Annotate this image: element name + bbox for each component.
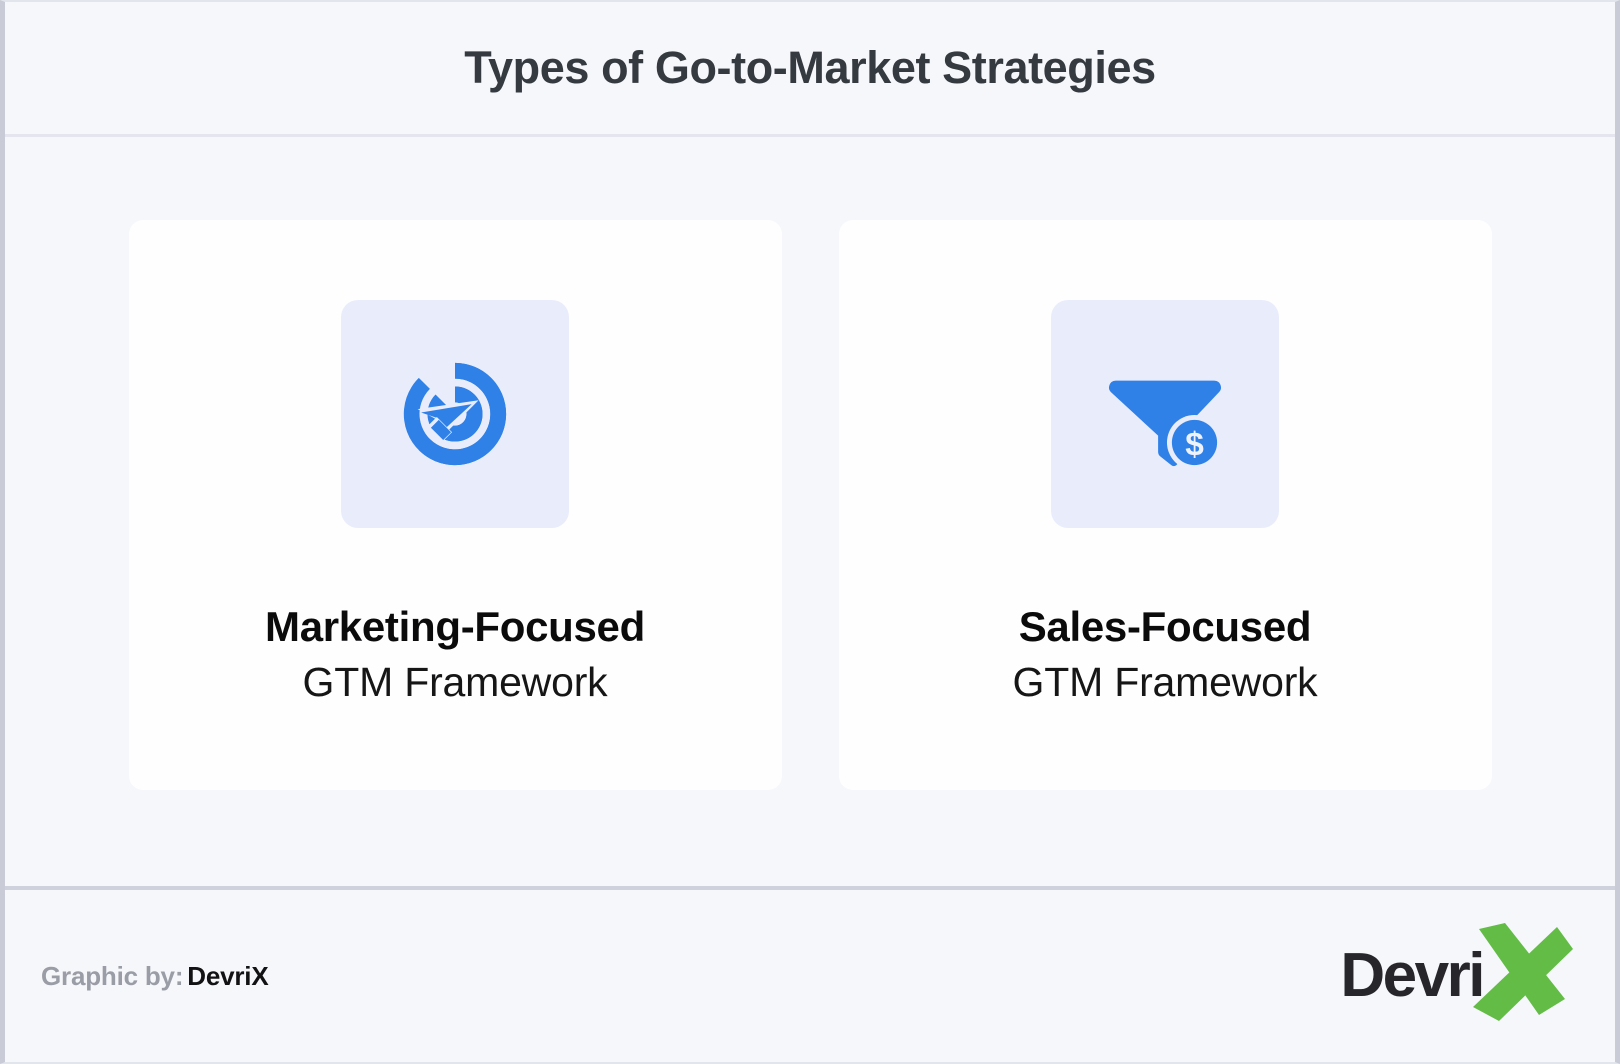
logo-x-mark-icon: [1461, 923, 1573, 1032]
header-bar: Types of Go-to-Market Strategies: [5, 2, 1615, 137]
strategy-card-sales-focused[interactable]: $ Sales-Focused GTM Framework: [839, 220, 1492, 790]
target-cursor-icon: [396, 355, 514, 473]
strategy-card-list: Marketing-Focused GTM Framework: [129, 220, 1492, 790]
card-title: Marketing-Focused: [265, 606, 645, 648]
credit-name: DevriX: [187, 961, 268, 991]
card-text-sales: Sales-Focused GTM Framework: [1013, 606, 1318, 703]
card-title: Sales-Focused: [1013, 606, 1318, 648]
strategy-card-marketing-focused[interactable]: Marketing-Focused GTM Framework: [129, 220, 782, 790]
page-title: Types of Go-to-Market Strategies: [464, 44, 1156, 91]
footer-bar: Graphic by:DevriX Devri: [5, 886, 1615, 1062]
svg-text:$: $: [1185, 426, 1204, 463]
main-content: Marketing-Focused GTM Framework: [5, 137, 1615, 886]
card-subtitle: GTM Framework: [1013, 662, 1318, 703]
credit-label: Graphic by:: [41, 961, 183, 991]
card-text-marketing: Marketing-Focused GTM Framework: [265, 606, 645, 703]
icon-tile-sales: $: [1051, 300, 1279, 528]
card-subtitle: GTM Framework: [265, 662, 645, 703]
sales-funnel-dollar-icon: $: [1106, 355, 1224, 473]
icon-tile-marketing: [341, 300, 569, 528]
infographic-root: Types of Go-to-Market Strategies: [0, 0, 1620, 1064]
graphic-credit: Graphic by:DevriX: [41, 961, 268, 992]
devrix-logo[interactable]: Devri: [1340, 926, 1579, 1026]
